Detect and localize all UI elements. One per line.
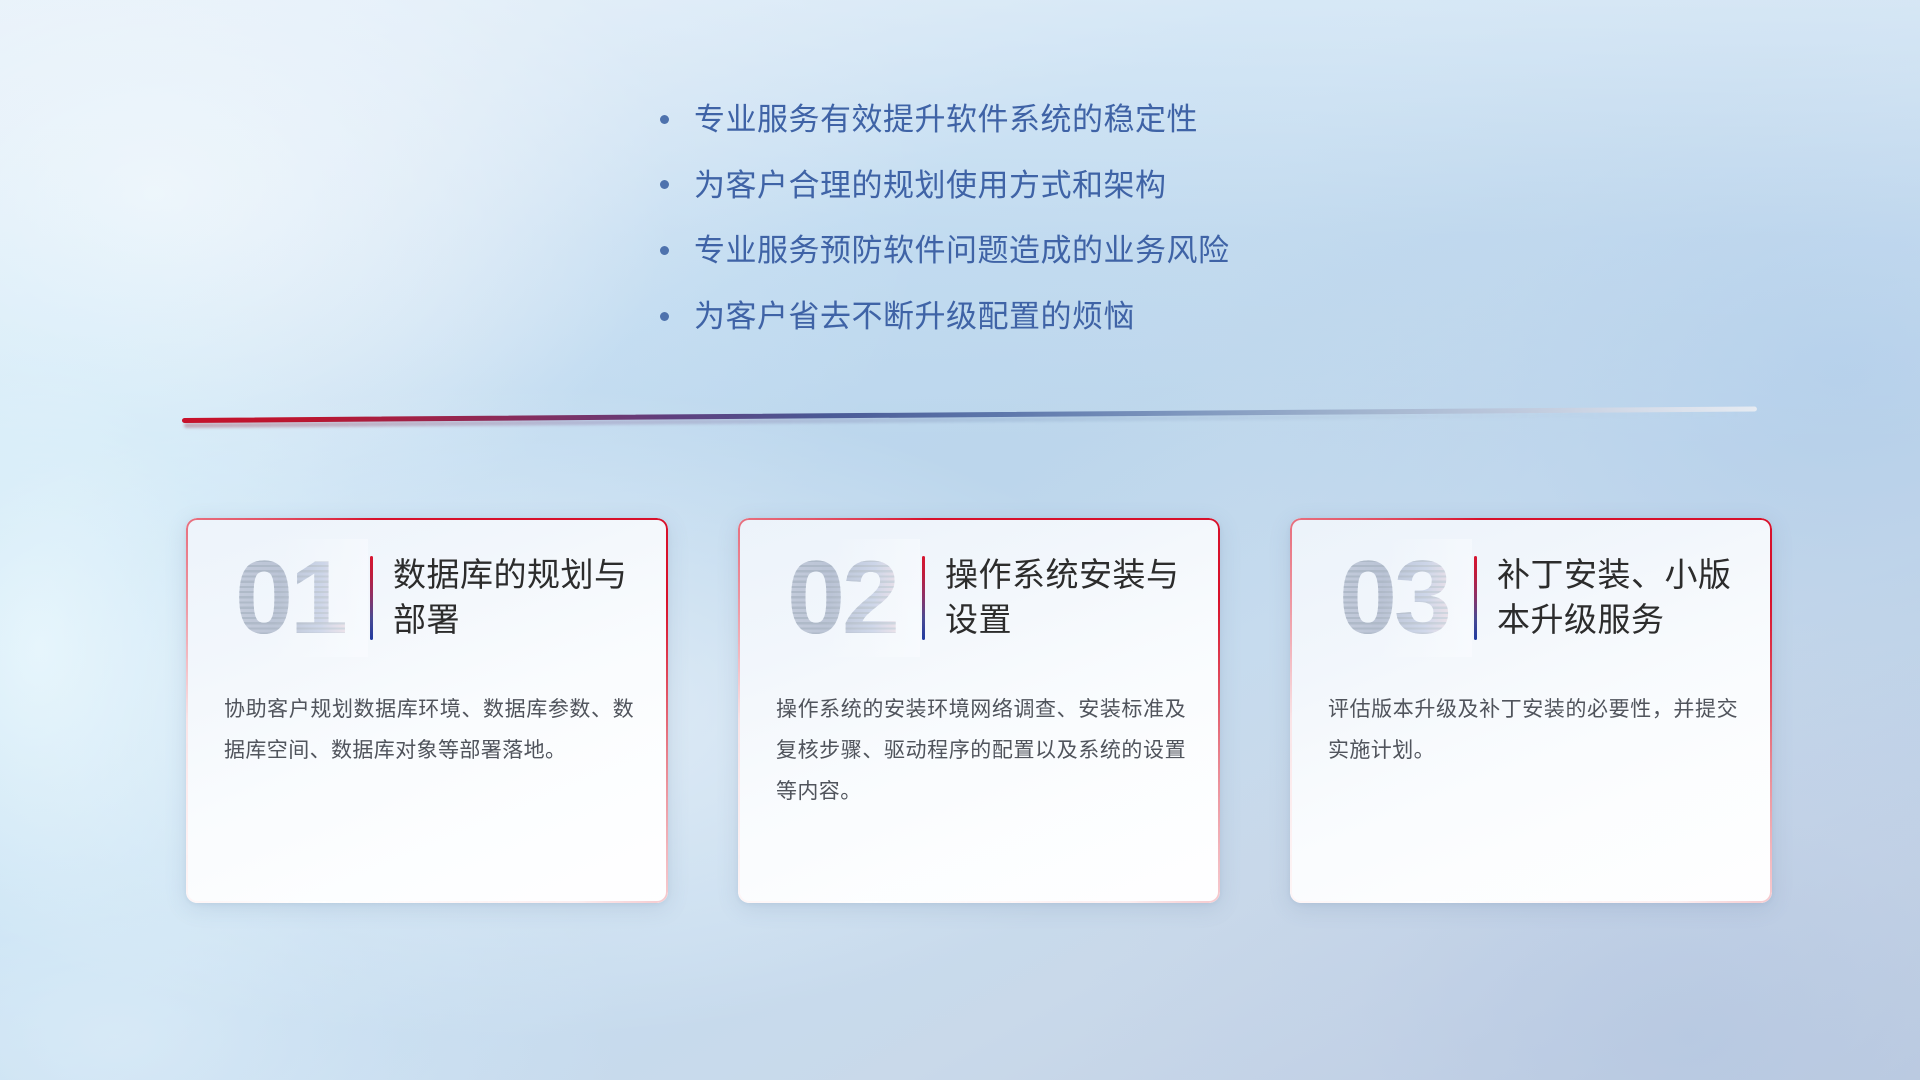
benefit-bullet-list: 专业服务有效提升软件系统的稳定性 为客户合理的规划使用方式和架构 专业服务预防软… [660, 100, 1560, 363]
service-card-number-wrap: 02 [764, 539, 920, 657]
slide-canvas: 专业服务有效提升软件系统的稳定性 为客户合理的规划使用方式和架构 专业服务预防软… [0, 0, 1920, 1080]
bullet-item-label: 为客户省去不断升级配置的烦恼 [694, 297, 1135, 337]
service-card[interactable]: 03 补丁安装、小版本升级服务 评估版本升级及补丁安装的必要性，并提交实施计划。 [1290, 518, 1772, 903]
service-card-body: 协助客户规划数据库环境、数据库参数、数据库空间、数据库对象等部署落地。 [224, 690, 634, 772]
card-title-separator-bar [1474, 556, 1477, 640]
card-title-separator-bar [370, 556, 373, 640]
bullet-item-label: 专业服务预防软件问题造成的业务风险 [694, 231, 1230, 271]
bullet-item-label: 专业服务有效提升软件系统的稳定性 [694, 100, 1198, 140]
gradient-divider [182, 406, 1757, 429]
service-card-body: 操作系统的安装环境网络调查、安装标准及复核步骤、驱动程序的配置以及系统的设置等内… [776, 690, 1186, 813]
service-card-title: 补丁安装、小版本升级服务 [1497, 553, 1772, 643]
bullet-dot-icon [660, 301, 694, 327]
service-card-number: 03 [1316, 539, 1472, 657]
service-card-number-wrap: 03 [1316, 539, 1472, 657]
bullet-dot-icon [660, 170, 694, 196]
service-card[interactable]: 01 数据库的规划与部署 协助客户规划数据库环境、数据库参数、数据库空间、数据库… [186, 518, 668, 903]
bullet-dot-icon [660, 104, 694, 130]
service-card-number: 02 [764, 539, 920, 657]
service-card-body: 评估版本升级及补丁安装的必要性，并提交实施计划。 [1328, 690, 1738, 772]
service-card[interactable]: 02 操作系统安装与设置 操作系统的安装环境网络调查、安装标准及复核步骤、驱动程… [738, 518, 1220, 903]
bullet-item: 为客户合理的规划使用方式和架构 [660, 166, 1560, 206]
service-card-title: 操作系统安装与设置 [945, 553, 1220, 643]
service-card-number: 01 [212, 539, 368, 657]
bullet-item: 为客户省去不断升级配置的烦恼 [660, 297, 1560, 337]
service-card-number-wrap: 01 [212, 539, 368, 657]
service-card-title: 数据库的规划与部署 [393, 553, 668, 643]
card-title-separator-bar [922, 556, 925, 640]
service-card-header: 01 数据库的规划与部署 [186, 528, 668, 668]
bullet-dot-icon [660, 235, 694, 261]
service-card-header: 03 补丁安装、小版本升级服务 [1290, 528, 1772, 668]
bullet-item-label: 为客户合理的规划使用方式和架构 [694, 166, 1167, 206]
bullet-item: 专业服务预防软件问题造成的业务风险 [660, 231, 1560, 271]
service-card-row: 01 数据库的规划与部署 协助客户规划数据库环境、数据库参数、数据库空间、数据库… [0, 518, 1920, 938]
service-card-header: 02 操作系统安装与设置 [738, 528, 1220, 668]
bullet-item: 专业服务有效提升软件系统的稳定性 [660, 100, 1560, 140]
